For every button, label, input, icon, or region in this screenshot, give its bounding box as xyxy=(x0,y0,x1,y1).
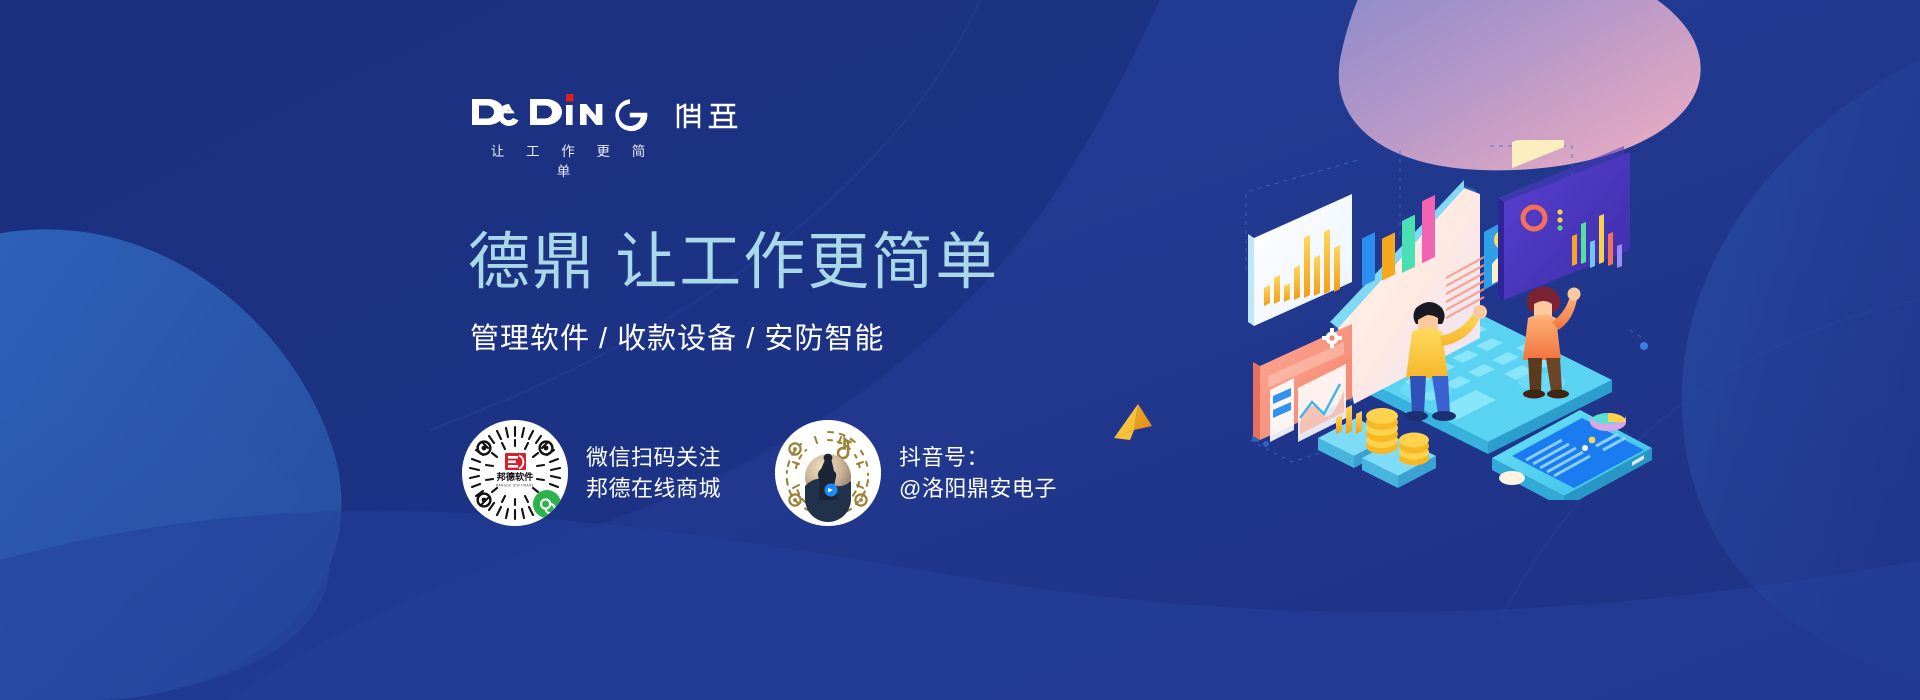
qr-item-wechat[interactable]: 邦德软件 BANGDE SOFTWARE 微信扫码关注 邦德在线商城 xyxy=(462,420,721,526)
qr-brand-label: 邦德软件 xyxy=(497,471,534,482)
logo-dot-red xyxy=(566,94,573,101)
page-subtitle: 管理软件 / 收款设备 / 安防智能 xyxy=(470,325,884,354)
bangde-logo-badge xyxy=(505,453,526,470)
isometric-analytics-illustration xyxy=(1240,140,1660,500)
banner-root: 让 工 作 更 简 单 德鼎 让工作更简单 管理软件 / 收款设备 / 安防智能 xyxy=(0,0,1920,700)
douyin-avatar xyxy=(805,454,851,522)
phone-pie-chart xyxy=(1590,413,1626,431)
logo-wordmark xyxy=(470,85,770,133)
logo-latin-mark xyxy=(470,89,666,133)
paper-plane-icon xyxy=(1108,400,1164,453)
logo-chinese-mark xyxy=(674,99,740,133)
page-title: 德鼎 让工作更简单 xyxy=(468,232,999,294)
qr-item-douyin[interactable]: 抖音号： @洛阳鼎安电子 xyxy=(775,420,1057,526)
qr-caption-wechat: 微信扫码关注 邦德在线商城 xyxy=(586,442,721,504)
wechat-qr-code[interactable]: 邦德软件 BANGDE SOFTWARE xyxy=(462,420,568,526)
qr-caption-line-2: @洛阳鼎安电子 xyxy=(899,473,1057,504)
qr-caption-line-2: 邦德在线商城 xyxy=(586,473,721,504)
logo-tagline: 让 工 作 更 简 单 xyxy=(470,140,666,180)
qr-code-row: 邦德软件 BANGDE SOFTWARE 微信扫码关注 邦德在线商城 xyxy=(462,420,1057,526)
wechat-miniprogram-icon xyxy=(533,490,561,518)
qr-caption-douyin: 抖音号： @洛阳鼎安电子 xyxy=(899,442,1057,504)
white-bar-chart-card xyxy=(1248,194,1352,326)
qr-brand-sub: BANGDE SOFTWARE xyxy=(496,484,534,488)
qr-caption-line-1: 微信扫码关注 xyxy=(586,442,721,473)
qr-caption-line-1: 抖音号： xyxy=(899,442,1057,473)
brand-logo[interactable]: 让 工 作 更 简 单 xyxy=(470,85,770,180)
purple-analytics-screen xyxy=(1498,140,1630,300)
douyin-qr-code[interactable] xyxy=(775,420,881,526)
